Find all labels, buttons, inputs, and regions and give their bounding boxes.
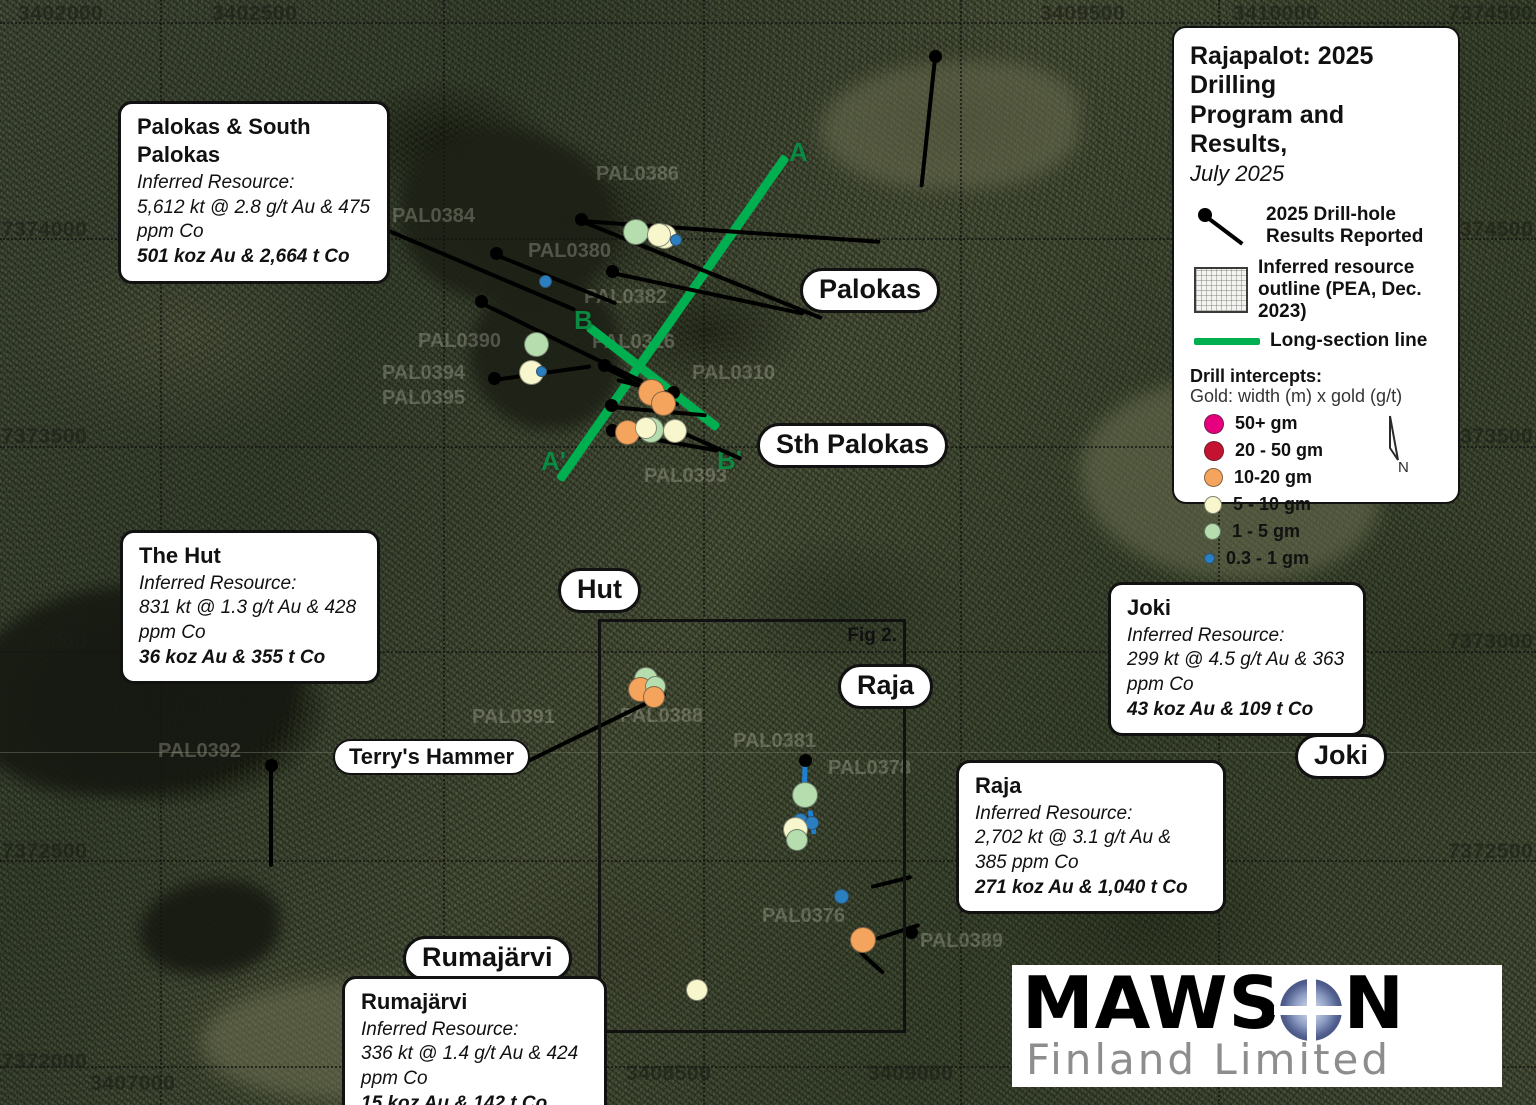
intercept-class-swatch-icon xyxy=(1204,523,1221,540)
legend-intercept-class: 1 - 5 gm xyxy=(1190,521,1442,542)
infobox-title: Palokas & South Palokas xyxy=(137,113,371,169)
drillhole-id-label: PAL0384 xyxy=(392,205,475,228)
section-a: A xyxy=(789,137,808,168)
legend-intercepts-subtitle: Gold: width (m) x gold (g/t) xyxy=(1190,386,1442,407)
place-label-rumajarvi: Rumajärvi xyxy=(403,936,572,981)
infobox-grade: 336 kt @ 1.4 g/t Au & 424 ppm Co xyxy=(361,1042,588,1091)
drillhole-id-label: PAL0380 xyxy=(528,240,611,263)
coordinate-label: 3402500 xyxy=(212,2,297,26)
section-b: B xyxy=(574,305,593,336)
mawson-logo: MAWSON Finland Limited xyxy=(1012,965,1502,1087)
section-a-prime: A' xyxy=(541,446,566,477)
infobox-grade: 5,612 kt @ 2.8 g/t Au & 475 ppm Co xyxy=(137,196,371,245)
coordinate-label: 3409000 xyxy=(868,1062,953,1086)
coordinate-label: 7374500 xyxy=(1448,218,1533,242)
coordinate-label: 3409500 xyxy=(1040,2,1125,26)
legend-intercept-class: 0.3 - 1 gm xyxy=(1190,548,1442,569)
place-label-palokas: Palokas xyxy=(800,268,940,313)
drill-intercept-symbol xyxy=(536,366,547,377)
drill-intercept-symbol xyxy=(670,234,682,246)
legend-longsection-entry: Long-section line xyxy=(1190,330,1442,352)
long-section-line-icon xyxy=(1194,338,1260,345)
legend-title-line2: Program and Results, xyxy=(1190,101,1442,160)
infobox-subtitle: Inferred Resource: xyxy=(1127,624,1347,648)
legend-resource-line1: Inferred resource xyxy=(1258,257,1442,279)
map-figure: 3402000340250034095003410000340700034085… xyxy=(0,0,1536,1105)
drill-intercept-symbol xyxy=(663,419,687,443)
legend-intercept-class: 5 - 10 gm xyxy=(1190,494,1442,515)
drill-hole-icon xyxy=(1196,203,1256,249)
drill-hole-collar xyxy=(490,247,503,260)
legend-drillhole-text: 2025 Drill-hole Results Reported xyxy=(1266,204,1423,248)
drillhole-id-label: PAL0386 xyxy=(596,163,679,186)
coordinate-label: 7373500 xyxy=(2,425,87,449)
resource-outline-icon xyxy=(1194,267,1248,313)
place-label-raja: Raja xyxy=(838,664,933,709)
infobox-grade: 2,702 kt @ 3.1 g/t Au & 385 ppm Co xyxy=(975,826,1207,875)
drill-intercept-symbol xyxy=(635,417,657,439)
drill-hole-trace xyxy=(269,767,273,867)
drill-hole-collar xyxy=(929,50,942,63)
infobox-subtitle: Inferred Resource: xyxy=(137,171,371,195)
place-label-sth-palokas: Sth Palokas xyxy=(757,423,948,468)
infobox-title: Rumajärvi xyxy=(361,988,588,1016)
infobox-subtitle: Inferred Resource: xyxy=(139,572,361,596)
legend-resource-entry: Inferred resource outline (PEA, Dec. 202… xyxy=(1190,257,1442,323)
drill-intercept-symbol xyxy=(524,332,549,357)
legend-intercepts-title: Drill intercepts: xyxy=(1190,366,1442,387)
drill-intercept-symbol xyxy=(651,391,676,416)
place-label-joki: Joki xyxy=(1295,734,1387,779)
drillhole-id-label: PAL0310 xyxy=(692,362,775,385)
coordinate-label: 3408500 xyxy=(626,1062,711,1086)
legend-longsection-text: Long-section line xyxy=(1270,330,1427,352)
drill-hole-collar xyxy=(905,926,918,939)
legend-drillhole-entry: 2025 Drill-hole Results Reported xyxy=(1190,203,1442,249)
infobox-the-hut: The Hut Inferred Resource: 831 kt @ 1.3 … xyxy=(120,530,380,684)
coordinate-label: 7372500 xyxy=(2,840,87,864)
legend-resource-line2: outline (PEA, Dec. 2023) xyxy=(1258,279,1442,323)
drillhole-id-label: PAL0395 xyxy=(382,387,465,410)
compass-north-icon: N xyxy=(1372,410,1422,482)
intercept-class-swatch-icon xyxy=(1204,441,1224,461)
drill-hole-collar xyxy=(488,372,501,385)
coordinate-label: 7373000 xyxy=(2,630,87,654)
intercept-class-label: 50+ gm xyxy=(1235,413,1298,434)
legend-drillhole-line2: Results Reported xyxy=(1266,226,1423,248)
drill-hole-collar xyxy=(598,359,611,372)
infobox-total: 501 koz Au & 2,664 t Co xyxy=(137,245,371,269)
place-label-hut: Hut xyxy=(558,568,641,613)
infobox-rumajarvi: Rumajärvi Inferred Resource: 336 kt @ 1.… xyxy=(342,976,607,1105)
intercept-class-swatch-icon xyxy=(1204,468,1223,487)
legend-resource-text: Inferred resource outline (PEA, Dec. 202… xyxy=(1258,257,1442,323)
intercept-class-label: 10-20 gm xyxy=(1234,467,1312,488)
drillhole-id-label: PAL0392 xyxy=(158,740,241,763)
logo-wordmark: MAWSON xyxy=(1022,967,1405,1039)
infobox-grade: 831 kt @ 1.3 g/t Au & 428 ppm Co xyxy=(139,596,361,645)
intercept-class-swatch-icon xyxy=(1204,553,1215,564)
legend-title-line1: Rajapalot: 2025 Drilling xyxy=(1190,42,1442,101)
intercept-class-label: 1 - 5 gm xyxy=(1232,521,1300,542)
svg-text:N: N xyxy=(1398,459,1409,476)
legend-drillhole-line1: 2025 Drill-hole xyxy=(1266,204,1423,226)
drillhole-id-label: PAL0394 xyxy=(382,362,465,385)
intercept-class-label: 20 - 50 gm xyxy=(1235,440,1323,461)
drillhole-id-label: PAL0389 xyxy=(920,930,1003,953)
logo-globe-icon xyxy=(1280,979,1342,1041)
drillhole-id-label: PAL0393 xyxy=(644,465,727,488)
infobox-total: 36 koz Au & 355 t Co xyxy=(139,646,361,670)
infobox-total: 15 koz Au & 142 t Co xyxy=(361,1092,588,1105)
logo-subtitle: Finland Limited xyxy=(1026,1039,1391,1081)
legend-date: July 2025 xyxy=(1190,161,1442,187)
coordinate-label: 7372000 xyxy=(2,1050,87,1074)
place-label-terrys-hammer: Terry's Hammer xyxy=(333,739,530,775)
map-legend: Rajapalot: 2025 Drilling Program and Res… xyxy=(1172,26,1460,504)
drill-intercept-symbol xyxy=(647,223,671,247)
infobox-subtitle: Inferred Resource: xyxy=(361,1018,588,1042)
coordinate-label: 3402000 xyxy=(18,2,103,26)
drill-hole-collar xyxy=(605,399,618,412)
infobox-raja: Raja Inferred Resource: 2,702 kt @ 3.1 g… xyxy=(956,760,1226,914)
drill-hole-collar xyxy=(606,265,619,278)
drill-intercept-symbol xyxy=(623,219,649,245)
infobox-palokas-south-palokas: Palokas & South Palokas Inferred Resourc… xyxy=(118,101,390,284)
coordinate-label: 7373500 xyxy=(1448,425,1533,449)
coordinate-label: 7372500 xyxy=(1448,840,1533,864)
coordinate-label: 3410000 xyxy=(1233,2,1318,26)
drill-hole-collar xyxy=(475,295,488,308)
intercept-class-swatch-icon xyxy=(1204,496,1222,514)
intercept-class-swatch-icon xyxy=(1204,414,1224,434)
drillhole-id-label: PAL0390 xyxy=(418,330,501,353)
drillhole-id-label: PAL0391 xyxy=(472,706,555,729)
infobox-total: 271 koz Au & 1,040 t Co xyxy=(975,876,1207,900)
infobox-joki: Joki Inferred Resource: 299 kt @ 4.5 g/t… xyxy=(1108,582,1366,736)
drill-hole-collar xyxy=(265,759,278,772)
infobox-title: The Hut xyxy=(139,542,361,570)
drill-intercept-symbol xyxy=(539,275,552,288)
drill-hole-collar xyxy=(575,213,588,226)
infobox-total: 43 koz Au & 109 t Co xyxy=(1127,698,1347,722)
coordinate-label: 3407000 xyxy=(90,1072,175,1096)
infobox-grade: 299 kt @ 4.5 g/t Au & 363 ppm Co xyxy=(1127,648,1347,697)
coordinate-label: 7374500 xyxy=(1448,2,1533,26)
fig2-label: Fig 2. xyxy=(847,625,897,647)
infobox-subtitle: Inferred Resource: xyxy=(975,802,1207,826)
intercept-class-label: 0.3 - 1 gm xyxy=(1226,548,1309,569)
coordinate-label: 7374000 xyxy=(2,218,87,242)
infobox-title: Joki xyxy=(1127,594,1347,622)
coordinate-label: 7373000 xyxy=(1448,630,1533,654)
intercept-class-label: 5 - 10 gm xyxy=(1233,494,1311,515)
infobox-title: Raja xyxy=(975,772,1207,800)
